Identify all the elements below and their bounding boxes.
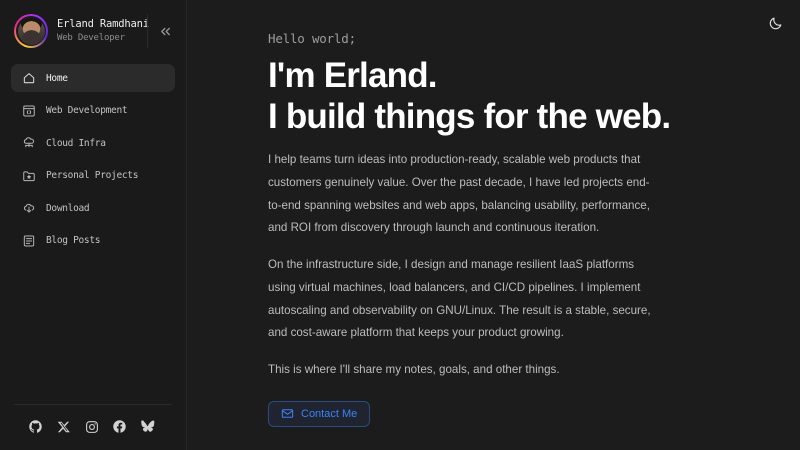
collapse-divider bbox=[147, 14, 176, 48]
sidebar-collapse-button[interactable] bbox=[154, 20, 176, 42]
avatar-photo bbox=[18, 18, 45, 45]
sidebar-item-label: Home bbox=[46, 73, 68, 84]
sidebar-item-blog-posts[interactable]: Blog Posts bbox=[11, 227, 175, 255]
intro-paragraph-1: I help teams turn ideas into production-… bbox=[268, 149, 660, 240]
sidebar-item-download[interactable]: Download bbox=[11, 194, 175, 222]
profile-role: Web Developer bbox=[57, 33, 143, 44]
sidebar-item-label: Web Development bbox=[46, 105, 127, 116]
instagram-icon[interactable] bbox=[84, 419, 99, 434]
headline-line-1: I'm Erland. bbox=[268, 56, 437, 95]
x-twitter-icon[interactable] bbox=[56, 419, 71, 434]
social-links bbox=[0, 405, 186, 450]
contact-me-label: Contact Me bbox=[301, 408, 357, 420]
sidebar-item-web-development[interactable]: Web Development bbox=[11, 97, 175, 125]
app-root: Erland Ramdhani Web Developer bbox=[0, 0, 800, 450]
sidebar-item-label: Personal Projects bbox=[46, 170, 138, 181]
facebook-icon[interactable] bbox=[112, 419, 127, 434]
hero-section: Hello world; I'm Erland. I build things … bbox=[187, 0, 800, 427]
sidebar-item-home[interactable]: Home bbox=[11, 64, 175, 92]
intro-paragraph-3: This is where I'll share my notes, goals… bbox=[268, 359, 660, 382]
intro-paragraph-2: On the infrastructure side, I design and… bbox=[268, 254, 660, 345]
theme-toggle-button[interactable] bbox=[764, 12, 786, 34]
cloud-network-icon bbox=[21, 136, 36, 151]
avatar-inner bbox=[16, 16, 46, 46]
bluesky-butterfly-icon[interactable] bbox=[140, 419, 155, 434]
sidebar-profile: Erland Ramdhani Web Developer bbox=[0, 0, 186, 58]
sidebar-item-label: Blog Posts bbox=[46, 235, 100, 246]
sidebar-item-personal-projects[interactable]: Personal Projects bbox=[11, 162, 175, 190]
folder-star-icon bbox=[21, 168, 36, 183]
list-document-icon bbox=[21, 233, 36, 248]
chevrons-left-icon bbox=[158, 24, 173, 39]
sidebar-item-cloud-infra[interactable]: Cloud Infra bbox=[11, 129, 175, 157]
page-title: I'm Erland. I build things for the web. bbox=[268, 56, 800, 137]
sidebar-item-label: Download bbox=[46, 203, 89, 214]
home-icon bbox=[21, 71, 36, 86]
cloud-download-icon bbox=[21, 201, 36, 216]
sidebar-nav: Home Web Development bbox=[0, 58, 186, 404]
code-window-icon bbox=[21, 103, 36, 118]
github-icon[interactable] bbox=[28, 419, 43, 434]
moon-icon bbox=[768, 16, 783, 31]
contact-me-button[interactable]: Contact Me bbox=[268, 401, 370, 427]
sidebar: Erland Ramdhani Web Developer bbox=[0, 0, 187, 450]
greeting-text: Hello world; bbox=[268, 31, 800, 46]
profile-text: Erland Ramdhani Web Developer bbox=[57, 18, 143, 44]
envelope-icon bbox=[281, 407, 294, 420]
sidebar-item-label: Cloud Infra bbox=[46, 138, 106, 149]
profile-name: Erland Ramdhani bbox=[57, 18, 143, 31]
avatar[interactable] bbox=[14, 14, 48, 48]
headline-line-2: I build things for the web. bbox=[268, 97, 670, 136]
main-content: Hello world; I'm Erland. I build things … bbox=[187, 0, 800, 450]
